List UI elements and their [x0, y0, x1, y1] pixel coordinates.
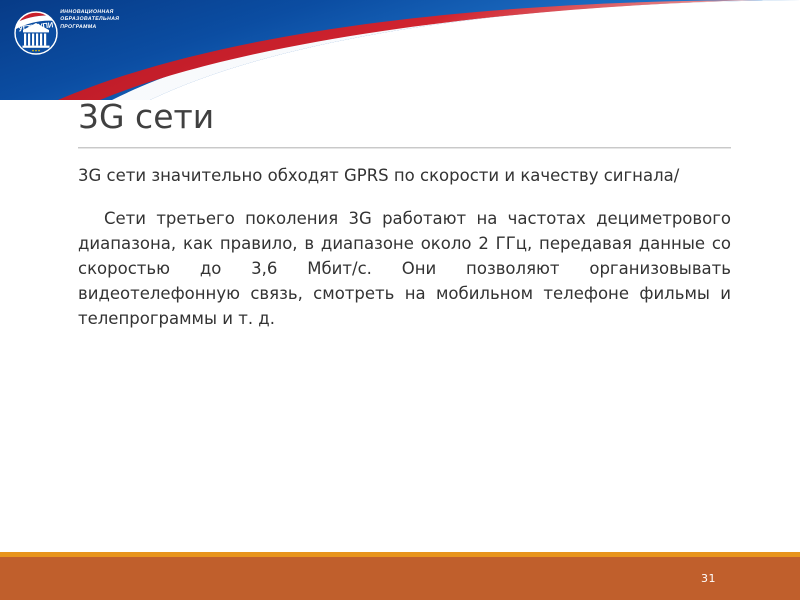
footer-band — [0, 557, 800, 600]
program-line-3: ПРОГРАММА — [59, 24, 146, 31]
body-paragraph-2: Сети третьего поколения 3G работают на ч… — [78, 206, 731, 331]
slide: УГТУ-УПИ ИННОВАЦИОННАЯ ОБРАЗОВАТЕЛЬНАЯ П… — [0, 0, 800, 600]
slide-number: 31 — [701, 572, 716, 585]
slide-body: 3G сети значительно обходят GPRS по скор… — [78, 163, 731, 331]
title-divider — [78, 147, 731, 149]
slide-title: 3G сети — [78, 97, 214, 136]
university-logo-icon: УГТУ-УПИ — [13, 9, 59, 57]
body-paragraph-1: 3G сети значительно обходят GPRS по скор… — [78, 163, 731, 188]
program-title-text: ИННОВАЦИОННАЯ ОБРАЗОВАТЕЛЬНАЯ ПРОГРАММА — [60, 9, 146, 35]
program-line-2: ОБРАЗОВАТЕЛЬНАЯ — [59, 16, 146, 23]
